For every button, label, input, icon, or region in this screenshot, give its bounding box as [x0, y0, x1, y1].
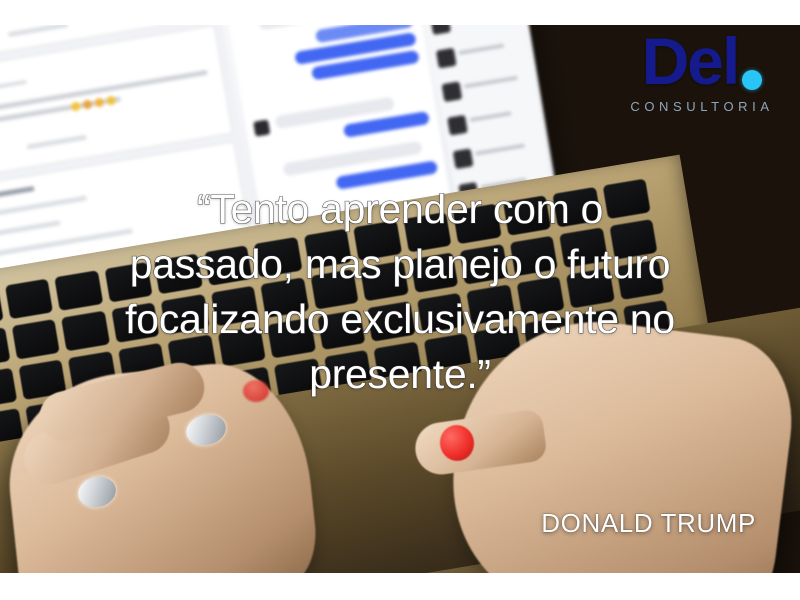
top-white-band — [0, 0, 800, 25]
quote-text: “Tento aprender com o passado, mas plane… — [0, 182, 800, 402]
quote-slide: “Tento aprender com o passado, mas plane… — [0, 0, 800, 600]
brand-logo: Del CONSULTORIA — [622, 28, 782, 113]
logo-dot-icon — [742, 70, 762, 90]
quote-attribution: DONALD TRUMP — [541, 508, 756, 539]
logo-tagline: CONSULTORIA — [622, 100, 782, 113]
bottom-white-band — [0, 573, 800, 600]
logo-wordmark-row: Del — [622, 28, 782, 94]
logo-wordmark: Del — [642, 28, 739, 94]
